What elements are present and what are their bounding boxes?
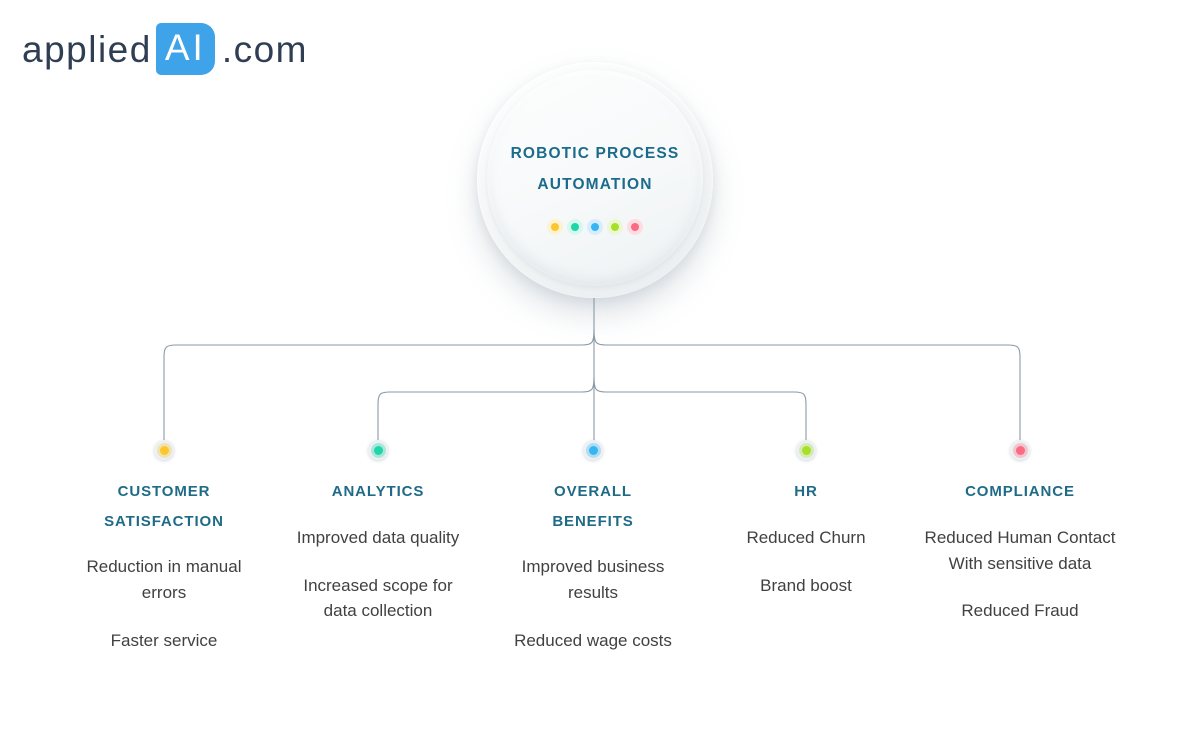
- branch-title-customer-satisfaction: CUSTOMER SATISFACTION: [44, 477, 284, 536]
- branch-node-dot-customer-satisfaction[interactable]: [154, 440, 174, 460]
- branch-item: Brand boost: [706, 573, 906, 599]
- node-dot-core-icon: [1016, 446, 1025, 455]
- logo-ai-badge: AI: [156, 23, 215, 75]
- connector-lower-right: [594, 377, 806, 447]
- branch-items-compliance: Reduced Human Contact With sensitive dat…: [896, 525, 1144, 624]
- node-dot-core-icon: [589, 446, 598, 455]
- hub-dot-yellow: [551, 223, 559, 231]
- hub-circle[interactable]: ROBOTIC PROCESS AUTOMATION: [477, 62, 713, 298]
- branch-title-compliance: COMPLIANCE: [896, 477, 1144, 507]
- branch-node-dot-analytics[interactable]: [368, 440, 388, 460]
- branch-title-overall-benefits: OVERALL BENEFITS: [482, 477, 704, 536]
- branch-item: Faster service: [44, 628, 284, 654]
- branch-compliance[interactable]: COMPLIANCEReduced Human Contact With sen…: [896, 440, 1144, 624]
- connector-upper-right: [594, 330, 1020, 447]
- branch-item: Reduced Human Contact With sensitive dat…: [896, 525, 1144, 577]
- node-dot-core-icon: [374, 446, 383, 455]
- branch-item: Improved data quality: [268, 525, 488, 551]
- branch-node-dot-overall-benefits[interactable]: [583, 440, 603, 460]
- applied-ai-logo[interactable]: applied AI .com: [22, 22, 308, 76]
- branch-item: Increased scope for data collection: [268, 573, 488, 625]
- branch-node-dot-hr[interactable]: [796, 440, 816, 460]
- branch-title-analytics: ANALYTICS: [268, 477, 488, 507]
- logo-dotcom: .com: [222, 31, 308, 68]
- connector-lower-left: [378, 377, 594, 447]
- hub-dot-row: [551, 223, 639, 231]
- branch-overall-benefits[interactable]: OVERALL BENEFITSImproved business result…: [482, 440, 704, 654]
- branch-items-analytics: Improved data qualityIncreased scope for…: [268, 525, 488, 624]
- hub-dot-lime: [611, 223, 619, 231]
- branch-items-overall-benefits: Improved business resultsReduced wage co…: [482, 554, 704, 653]
- logo-word: applied: [22, 31, 152, 68]
- branch-node-dot-compliance[interactable]: [1010, 440, 1030, 460]
- hub-dot-pink: [631, 223, 639, 231]
- hub-dot-teal: [571, 223, 579, 231]
- connector-upper-left: [164, 330, 594, 447]
- node-dot-core-icon: [802, 446, 811, 455]
- node-dot-core-icon: [160, 446, 169, 455]
- branch-items-hr: Reduced ChurnBrand boost: [706, 525, 906, 599]
- branch-analytics[interactable]: ANALYTICSImproved data qualityIncreased …: [268, 440, 488, 624]
- branch-item: Improved business results: [482, 554, 704, 606]
- branch-title-hr: HR: [706, 477, 906, 507]
- hub-dot-blue: [591, 223, 599, 231]
- branch-item: Reduction in manual errors: [44, 554, 284, 606]
- branch-item: Reduced Fraud: [896, 598, 1144, 624]
- branch-hr[interactable]: HRReduced ChurnBrand boost: [706, 440, 906, 598]
- hub-title: ROBOTIC PROCESS AUTOMATION: [511, 139, 680, 200]
- hub-inner-circle: ROBOTIC PROCESS AUTOMATION: [487, 70, 703, 286]
- branch-item: Reduced wage costs: [482, 628, 704, 654]
- diagram-canvas: applied AI .com ROBOTIC PROCESS AUTOMATI…: [0, 0, 1200, 736]
- branch-item: Reduced Churn: [706, 525, 906, 551]
- branch-customer-satisfaction[interactable]: CUSTOMER SATISFACTIONReduction in manual…: [44, 440, 284, 654]
- branch-items-customer-satisfaction: Reduction in manual errorsFaster service: [44, 554, 284, 653]
